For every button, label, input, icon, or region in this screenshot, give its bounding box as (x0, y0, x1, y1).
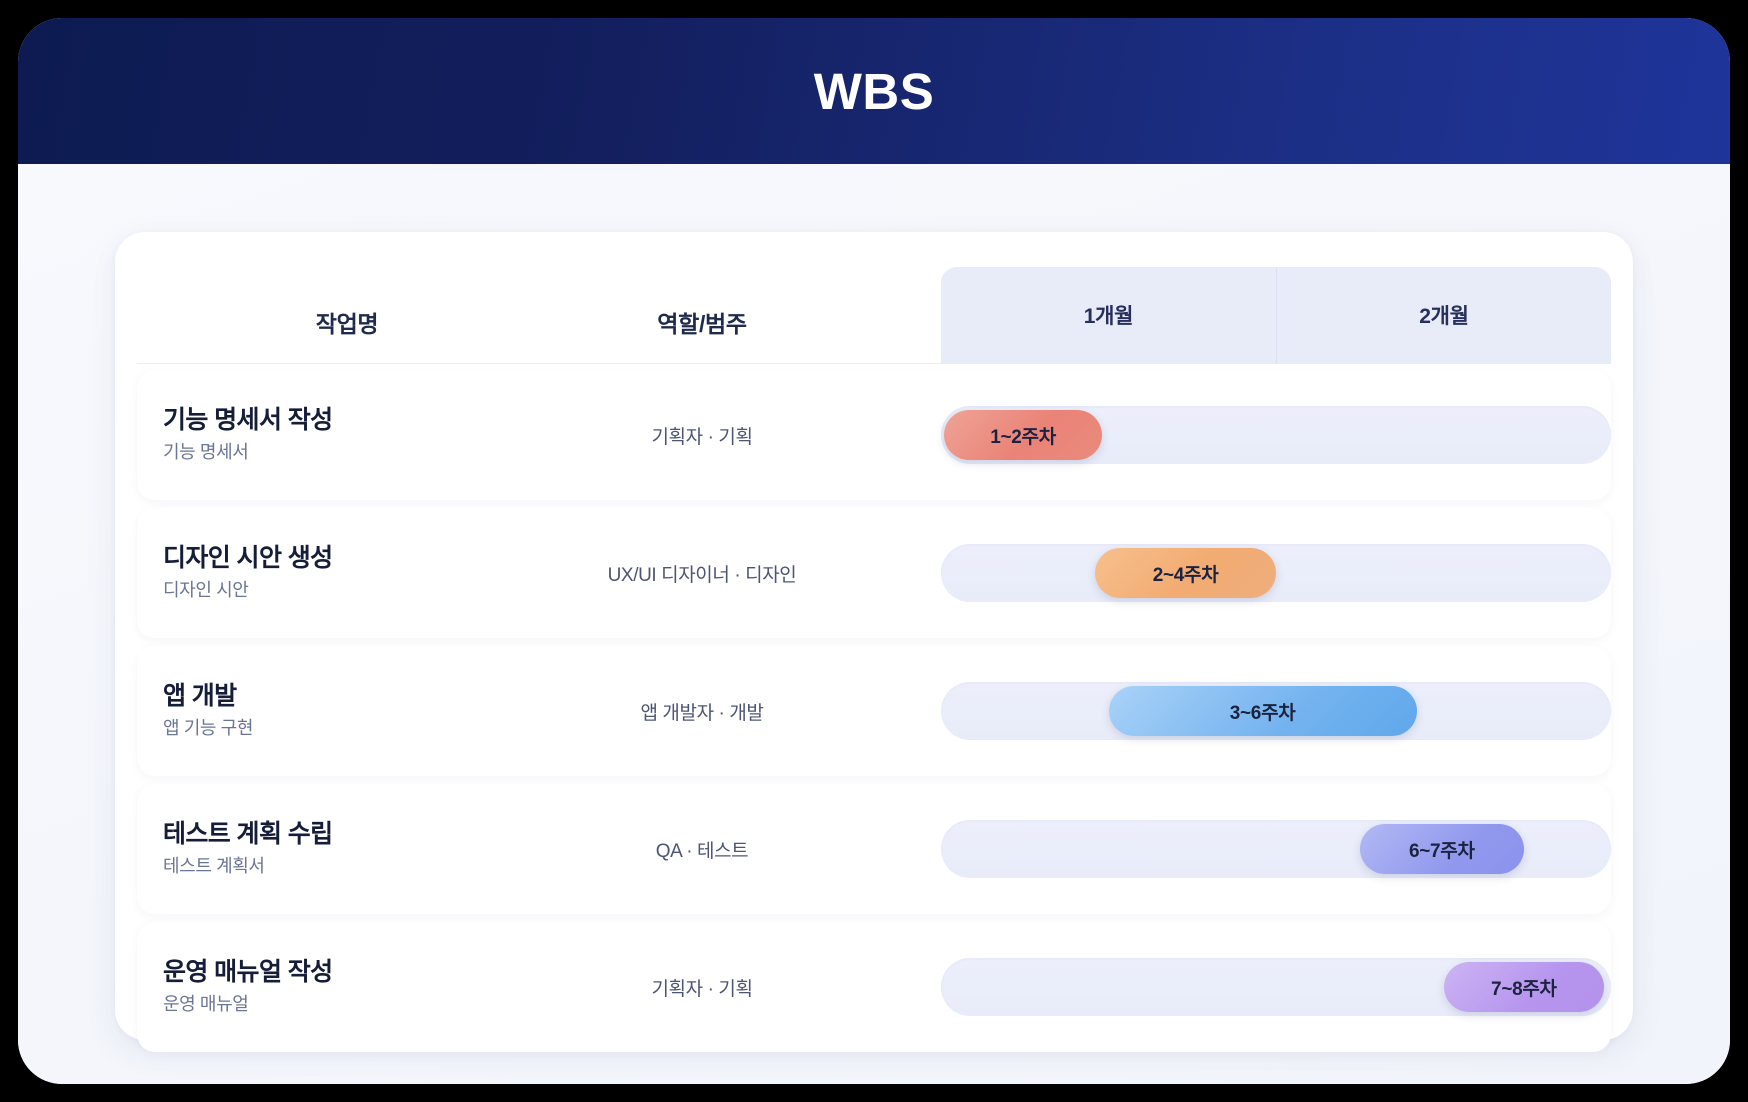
gantt-track: 6~7주차 (941, 820, 1611, 878)
table-row[interactable]: 디자인 시안 생성 디자인 시안 UX/UI 디자이너 · 디자인 2~4주차 (137, 508, 1611, 638)
task-name: 기능 명세서 작성 (163, 407, 557, 435)
table-header: 작업명 역할/범주 1개월 2개월 (137, 232, 1611, 364)
table-row[interactable]: 기능 명세서 작성 기능 명세서 기획자 · 기획 1~2주차 (137, 370, 1611, 500)
task-deliverable: 기능 명세서 (163, 443, 557, 463)
gantt-track: 7~8주차 (941, 958, 1611, 1016)
role-cell: 기획자 · 기획 (557, 974, 847, 1001)
column-header-task-label: 작업명 (316, 305, 379, 339)
app-header: WBS (18, 18, 1730, 164)
app-window: WBS 작업명 역할/범주 1개월 2개월 (18, 18, 1730, 1084)
task-cell: 디자인 시안 생성 디자인 시안 (137, 545, 557, 601)
task-cell: 기능 명세서 작성 기능 명세서 (137, 407, 557, 463)
gantt-track: 2~4주차 (941, 544, 1611, 602)
task-deliverable: 운영 매뉴얼 (163, 995, 557, 1015)
task-name: 앱 개발 (163, 683, 557, 711)
gantt-bar[interactable]: 2~4주차 (1095, 548, 1276, 598)
gantt-bar[interactable]: 1~2주차 (944, 410, 1101, 460)
gantt-bar[interactable]: 7~8주차 (1444, 962, 1605, 1012)
wbs-card: 작업명 역할/범주 1개월 2개월 기능 명세서 작성 기능 명세서 (115, 232, 1633, 1040)
role-cell: 기획자 · 기획 (557, 422, 847, 449)
timeline-cell: 7~8주차 (847, 958, 1611, 1016)
timeline-cell: 6~7주차 (847, 820, 1611, 878)
task-name: 테스트 계획 수립 (163, 821, 557, 849)
column-header-timeline: 1개월 2개월 (847, 267, 1611, 363)
task-name: 디자인 시안 생성 (163, 545, 557, 573)
timeline-cell: 2~4주차 (847, 544, 1611, 602)
gantt-track: 1~2주차 (941, 406, 1611, 464)
timeline-cell: 3~6주차 (847, 682, 1611, 740)
table-body: 기능 명세서 작성 기능 명세서 기획자 · 기획 1~2주차 디자인 시안 생… (137, 364, 1611, 1060)
month-header-group: 1개월 2개월 (941, 267, 1611, 363)
task-deliverable: 디자인 시안 (163, 581, 557, 601)
gantt-bar[interactable]: 3~6주차 (1109, 686, 1417, 736)
task-deliverable: 테스트 계획서 (163, 857, 557, 877)
column-header-task: 작업명 (137, 305, 557, 363)
role-cell: QA · 테스트 (557, 836, 847, 863)
page-title: WBS (814, 66, 934, 117)
column-header-role-label: 역할/범주 (657, 305, 747, 339)
task-cell: 앱 개발 앱 기능 구현 (137, 683, 557, 739)
app-body: 작업명 역할/범주 1개월 2개월 기능 명세서 작성 기능 명세서 (18, 164, 1730, 1084)
table-row[interactable]: 테스트 계획 수립 테스트 계획서 QA · 테스트 6~7주차 (137, 784, 1611, 914)
table-row[interactable]: 앱 개발 앱 기능 구현 앱 개발자 · 개발 3~6주차 (137, 646, 1611, 776)
role-cell: 앱 개발자 · 개발 (557, 698, 847, 725)
table-row[interactable]: 운영 매뉴얼 작성 운영 매뉴얼 기획자 · 기획 7~8주차 (137, 922, 1611, 1052)
task-name: 운영 매뉴얼 작성 (163, 959, 557, 987)
task-deliverable: 앱 기능 구현 (163, 719, 557, 739)
task-cell: 테스트 계획 수립 테스트 계획서 (137, 821, 557, 877)
column-header-role: 역할/범주 (557, 305, 847, 363)
role-cell: UX/UI 디자이너 · 디자인 (557, 560, 847, 587)
task-cell: 운영 매뉴얼 작성 운영 매뉴얼 (137, 959, 557, 1015)
gantt-bar[interactable]: 6~7주차 (1360, 824, 1524, 874)
month-header-2: 2개월 (1276, 267, 1611, 363)
gantt-track: 3~6주차 (941, 682, 1611, 740)
month-header-1: 1개월 (941, 267, 1276, 363)
timeline-cell: 1~2주차 (847, 406, 1611, 464)
